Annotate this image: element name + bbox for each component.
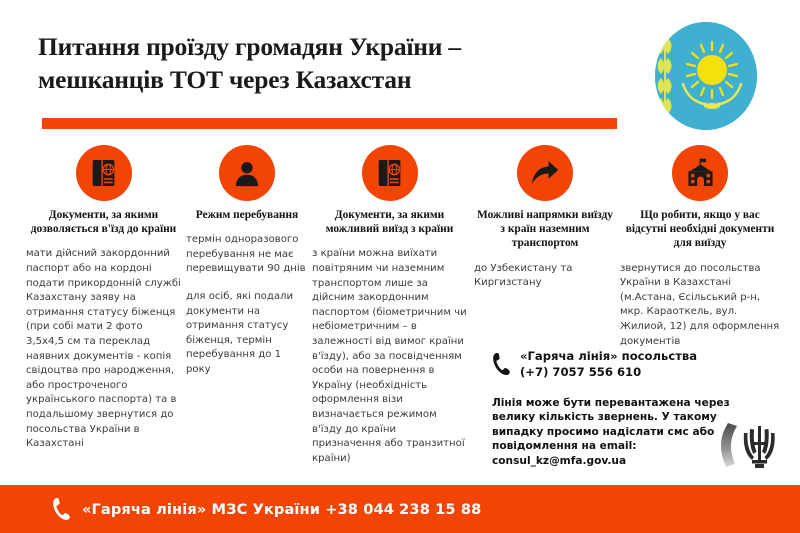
title-underline-rule (42, 118, 617, 129)
column-body: термін одноразового перебування не має п… (186, 233, 308, 377)
column-body: з країни можна виїхати повітряним чи наз… (312, 247, 467, 466)
person-icon (219, 145, 275, 201)
column-body: звернутися до посольства України в Казах… (620, 262, 780, 350)
embassy-building-icon (672, 145, 728, 201)
column-paragraph: звернутися до посольства України в Казах… (620, 262, 780, 350)
column-paragraph: з країни можна виїхати повітряним чи наз… (312, 247, 467, 466)
column-heading: Можливі напрямки виїзду з країн наземним… (474, 208, 616, 251)
column-stay-regime: Режим перебування термін одноразового пе… (186, 145, 308, 378)
column-body: мати дійсний закордонний паспорт або на … (26, 247, 181, 451)
kazakhstan-flag-icon (655, 22, 757, 130)
hotline-row: «Гаряча лінія» посольства (+7) 7057 556 … (492, 348, 697, 380)
column-heading: Що робити, якщо у вас відсутні необхідні… (620, 208, 780, 251)
infographic-poster: Питання проїзду громадян України – мешка… (0, 0, 800, 533)
column-paragraph: термін одноразового перебування не має п… (186, 233, 308, 277)
column-exit-documents: Документи, за якими можливий виїзд з кра… (312, 145, 467, 466)
footer-hotline-bar: «Гаряча лінія» МЗС України +38 044 238 1… (0, 485, 800, 533)
passport-icon (362, 145, 418, 201)
phone-icon (52, 497, 71, 521)
column-heading: Документи, за якими дозволяється в'їзд д… (26, 208, 181, 236)
footer-hotline-text: «Гаряча лінія» МЗС України +38 044 238 1… (82, 501, 481, 518)
ukraine-trident-icon (744, 426, 775, 468)
column-paragraph: мати дійсний закордонний паспорт або на … (26, 247, 181, 451)
column-missing-documents: Що робити, якщо у вас відсутні необхідні… (620, 145, 780, 349)
arrow-icon (517, 145, 573, 201)
mfa-emblem (710, 420, 788, 472)
hotline-label: «Гаряча лінія» посольства (520, 348, 697, 364)
column-heading: Документи, за якими можливий виїзд з кра… (312, 208, 467, 236)
footer-inner: «Гаряча лінія» МЗС України +38 044 238 1… (52, 497, 481, 521)
phone-icon (492, 352, 511, 376)
hotline-phone: (+7) 7057 556 610 (520, 364, 697, 380)
column-paragraph: для осіб, які подали документи на отрима… (186, 290, 308, 378)
column-heading: Режим перебування (186, 208, 308, 222)
column-paragraph: до Узбекистану та Киргизстану (474, 262, 616, 291)
column-body: до Узбекистану та Киргизстану (474, 262, 616, 291)
title-line-2: мешканців ТОТ через Казахстан (38, 63, 638, 96)
hotline-text: «Гаряча лінія» посольства (+7) 7057 556 … (520, 348, 697, 380)
title-line-1: Питання проїзду громадян України – (38, 30, 638, 63)
passport-icon (76, 145, 132, 201)
embassy-hotline-block: «Гаряча лінія» посольства (+7) 7057 556 … (492, 348, 792, 473)
page-title: Питання проїзду громадян України – мешка… (38, 30, 638, 96)
column-entry-documents: Документи, за якими дозволяється в'їзд д… (26, 145, 181, 452)
column-exit-directions: Можливі напрямки виїзду з країн наземним… (474, 145, 616, 291)
poster-header: Питання проїзду громадян України – мешка… (0, 0, 800, 140)
